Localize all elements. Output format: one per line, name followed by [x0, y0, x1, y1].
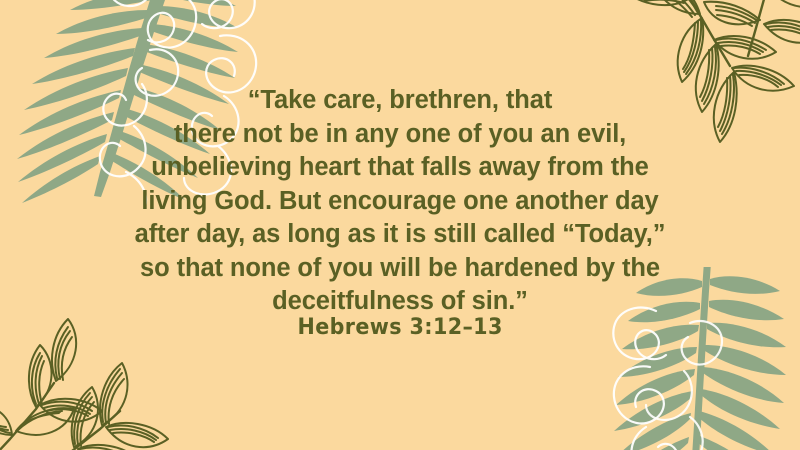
line-art-leaves-secondary-icon [646, 321, 722, 450]
quote-line: living God. But encourage one another da… [0, 185, 800, 219]
quote-line: unbelieving heart that falls away from t… [0, 151, 800, 185]
quote-block: “Take care, brethren, that there not be … [0, 84, 800, 319]
quote-line: so that none of you will be hardened by … [0, 252, 800, 286]
quote-line: deceitfulness of sin.” [0, 285, 800, 319]
scripture-reference-text: Hebrews 3:12–13 [297, 315, 502, 340]
verse-card: “Take care, brethren, that there not be … [0, 0, 800, 450]
quote-line: there not be in any one of you an evil, [0, 118, 800, 152]
quote-line: after day, as long as it is still called… [0, 218, 800, 252]
quote-line: “Take care, brethren, that [0, 84, 800, 118]
scripture-reference: Hebrews 3:12–13 [0, 315, 800, 340]
